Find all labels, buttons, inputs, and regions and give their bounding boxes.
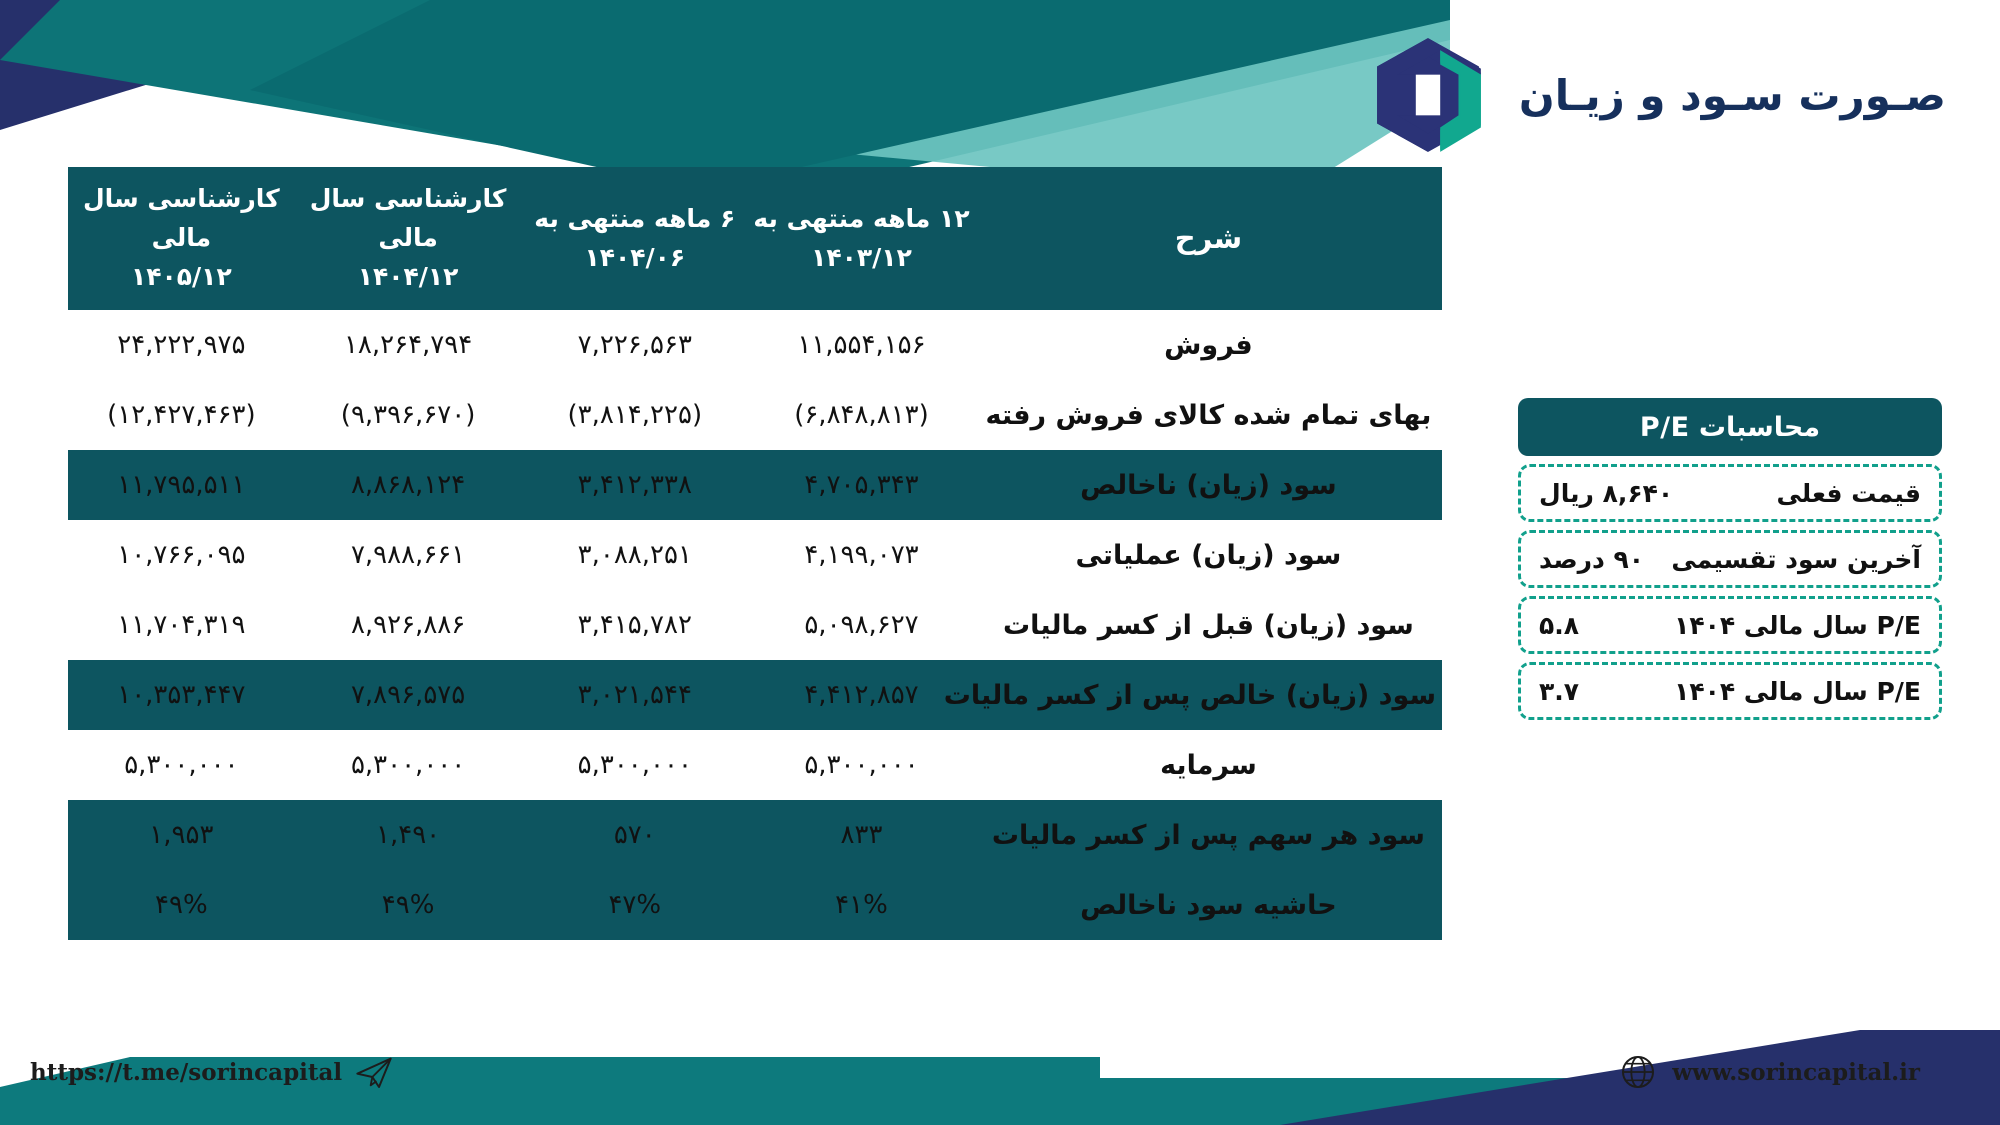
income-statement-table-wrapper: شرح ۱۲ ماهه منتهی به ۱۴۰۳/۱۲ ۶ ماهه منته…: [68, 167, 1442, 940]
row-value: ۴۹%: [68, 870, 295, 940]
table-row: سود (زیان) ناخالص۴,۷۰۵,۳۴۳۳,۴۱۲,۳۳۸۸,۸۶۸…: [68, 450, 1442, 520]
row-value: ۱۰,۳۵۳,۴۴۷: [68, 660, 295, 730]
row-value: ۸۳۳: [748, 800, 975, 870]
telegram-paper-plane-icon: [354, 1052, 394, 1092]
column-header-desc: شرح: [975, 167, 1442, 310]
pe-row-label: قیمت فعلی: [1777, 479, 1921, 508]
row-value: ۴,۱۹۹,۰۷۳: [748, 520, 975, 590]
row-value: ۱۱,۷۰۴,۳۱۹: [68, 590, 295, 660]
pe-row-label: P/E سال مالی ۱۴۰۴: [1674, 611, 1921, 640]
column-header-col4-line2: ۱۴۰۵/۱۲: [131, 262, 232, 291]
page-title: صـورت سـود و زیـان: [1519, 71, 1946, 120]
row-label: سود (زیان) عملیاتی: [975, 520, 1442, 590]
column-header-col4: کارشناسی سال مالی ۱۴۰۵/۱۲: [68, 167, 295, 310]
column-header-col2-line1: ۶ ماهه منتهی به: [534, 204, 735, 233]
row-value: ۴۱%: [748, 870, 975, 940]
row-value: (۳,۸۱۴,۲۲۵): [521, 380, 748, 450]
row-value: ۵,۳۰۰,۰۰۰: [68, 730, 295, 800]
row-value: ۱۸,۲۶۴,۷۹۴: [295, 310, 522, 380]
table-row: سود هر سهم پس از کسر مالیات۸۳۳۵۷۰۱,۴۹۰۱,…: [68, 800, 1442, 870]
row-value: ۳,۴۱۵,۷۸۲: [521, 590, 748, 660]
row-value: ۵,۳۰۰,۰۰۰: [748, 730, 975, 800]
column-header-col2: ۶ ماهه منتهی به ۱۴۰۴/۰۶: [521, 167, 748, 310]
column-header-col1: ۱۲ ماهه منتهی به ۱۴۰۳/۱۲: [748, 167, 975, 310]
row-label: سود هر سهم پس از کسر مالیات: [975, 800, 1442, 870]
row-label: فروش: [975, 310, 1442, 380]
row-value: ۴۷%: [521, 870, 748, 940]
slide-root: صـورت سـود و زیـان شرح: [0, 0, 2000, 1125]
column-header-col3-line2: ۱۴۰۴/۱۲: [358, 262, 459, 291]
sorin-capital-logo-icon: [1367, 34, 1489, 156]
pe-row: قیمت فعلی۸,۶۴۰ ریال: [1518, 464, 1942, 522]
pe-row-value: ۳.۷: [1539, 677, 1579, 706]
table-body: فروش۱۱,۵۵۴,۱۵۶۷,۲۲۶,۵۶۳۱۸,۲۶۴,۷۹۴۲۴,۲۲۲,…: [68, 310, 1442, 940]
pe-row-label: آخرین سود تقسیمی: [1671, 545, 1921, 574]
column-header-col3-line1: کارشناسی سال مالی: [310, 184, 507, 252]
column-header-col1-line2: ۱۴۰۳/۱۲: [811, 243, 912, 272]
column-header-col1-line1: ۱۲ ماهه منتهی به: [753, 204, 969, 233]
table-header-row: شرح ۱۲ ماهه منتهی به ۱۴۰۳/۱۲ ۶ ماهه منته…: [68, 167, 1442, 310]
table-row: سود (زیان) عملیاتی۴,۱۹۹,۰۷۳۳,۰۸۸,۲۵۱۷,۹۸…: [68, 520, 1442, 590]
row-value: ۱۱,۵۵۴,۱۵۶: [748, 310, 975, 380]
row-value: ۸,۸۶۸,۱۲۴: [295, 450, 522, 520]
page-header: صـورت سـود و زیـان: [1367, 34, 1946, 156]
row-label: سود (زیان) قبل از کسر مالیات: [975, 590, 1442, 660]
pe-rows-container: قیمت فعلی۸,۶۴۰ ریالآخرین سود تقسیمی۹۰ در…: [1518, 464, 1942, 720]
telegram-link-text[interactable]: https://t.me/sorincapital: [30, 1059, 342, 1086]
pe-row: P/E سال مالی ۱۴۰۴۳.۷: [1518, 662, 1942, 720]
column-header-col2-line2: ۱۴۰۴/۰۶: [584, 243, 685, 272]
row-value: ۳,۴۱۲,۳۳۸: [521, 450, 748, 520]
row-label: سود (زیان) ناخالص: [975, 450, 1442, 520]
footer-website[interactable]: www.sorincapital.ir: [1618, 1052, 1920, 1092]
globe-icon: [1618, 1052, 1658, 1092]
row-value: (۱۲,۴۲۷,۴۶۳): [68, 380, 295, 450]
pe-panel-title: محاسبات P/E: [1518, 398, 1942, 456]
row-value: ۱۱,۷۹۵,۵۱۱: [68, 450, 295, 520]
table-row: بهای تمام شده کالای فروش رفته(۶,۸۴۸,۸۱۳)…: [68, 380, 1442, 450]
row-value: ۷,۹۸۸,۶۶۱: [295, 520, 522, 590]
row-value: ۴,۴۱۲,۸۵۷: [748, 660, 975, 730]
row-value: ۴۹%: [295, 870, 522, 940]
pe-calculations-panel: محاسبات P/E قیمت فعلی۸,۶۴۰ ریالآخرین سود…: [1518, 398, 1942, 720]
row-label: سود (زیان) خالص پس از کسر مالیات: [975, 660, 1442, 730]
column-header-col4-line1: کارشناسی سال مالی: [83, 184, 280, 252]
row-value: ۷,۲۲۶,۵۶۳: [521, 310, 748, 380]
table-row: فروش۱۱,۵۵۴,۱۵۶۷,۲۲۶,۵۶۳۱۸,۲۶۴,۷۹۴۲۴,۲۲۲,…: [68, 310, 1442, 380]
table-row: سرمایه۵,۳۰۰,۰۰۰۵,۳۰۰,۰۰۰۵,۳۰۰,۰۰۰۵,۳۰۰,۰…: [68, 730, 1442, 800]
row-label: حاشیه سود ناخالص: [975, 870, 1442, 940]
pe-row: آخرین سود تقسیمی۹۰ درصد: [1518, 530, 1942, 588]
footer-telegram[interactable]: https://t.me/sorincapital: [30, 1052, 394, 1092]
row-value: ۳,۰۸۸,۲۵۱: [521, 520, 748, 590]
income-statement-table: شرح ۱۲ ماهه منتهی به ۱۴۰۳/۱۲ ۶ ماهه منته…: [68, 167, 1442, 940]
row-value: ۱,۹۵۳: [68, 800, 295, 870]
table-row: سود (زیان) خالص پس از کسر مالیات۴,۴۱۲,۸۵…: [68, 660, 1442, 730]
table-header: شرح ۱۲ ماهه منتهی به ۱۴۰۳/۱۲ ۶ ماهه منته…: [68, 167, 1442, 310]
row-value: ۸,۹۲۶,۸۸۶: [295, 590, 522, 660]
row-value: ۳,۰۲۱,۵۴۴: [521, 660, 748, 730]
column-header-desc-line1: شرح: [1175, 221, 1242, 255]
row-value: (۹,۳۹۶,۶۷۰): [295, 380, 522, 450]
column-header-col3: کارشناسی سال مالی ۱۴۰۴/۱۲: [295, 167, 522, 310]
website-link-text[interactable]: www.sorincapital.ir: [1672, 1059, 1920, 1086]
table-row: سود (زیان) قبل از کسر مالیات۵,۰۹۸,۶۲۷۳,۴…: [68, 590, 1442, 660]
row-value: ۴,۷۰۵,۳۴۳: [748, 450, 975, 520]
row-value: ۱,۴۹۰: [295, 800, 522, 870]
pe-row-value: ۵.۸: [1539, 611, 1579, 640]
row-value: (۶,۸۴۸,۸۱۳): [748, 380, 975, 450]
row-value: ۱۰,۷۶۶,۰۹۵: [68, 520, 295, 590]
pe-row: P/E سال مالی ۱۴۰۴۵.۸: [1518, 596, 1942, 654]
row-value: ۲۴,۲۲۲,۹۷۵: [68, 310, 295, 380]
row-value: ۵,۰۹۸,۶۲۷: [748, 590, 975, 660]
pe-row-label: P/E سال مالی ۱۴۰۴: [1674, 677, 1921, 706]
table-row: حاشیه سود ناخالص۴۱%۴۷%۴۹%۴۹%: [68, 870, 1442, 940]
row-label: بهای تمام شده کالای فروش رفته: [975, 380, 1442, 450]
row-value: ۷,۸۹۶,۵۷۵: [295, 660, 522, 730]
row-label: سرمایه: [975, 730, 1442, 800]
row-value: ۵۷۰: [521, 800, 748, 870]
pe-row-value: ۸,۶۴۰ ریال: [1539, 479, 1673, 508]
row-value: ۵,۳۰۰,۰۰۰: [295, 730, 522, 800]
row-value: ۵,۳۰۰,۰۰۰: [521, 730, 748, 800]
pe-row-value: ۹۰ درصد: [1539, 545, 1644, 574]
